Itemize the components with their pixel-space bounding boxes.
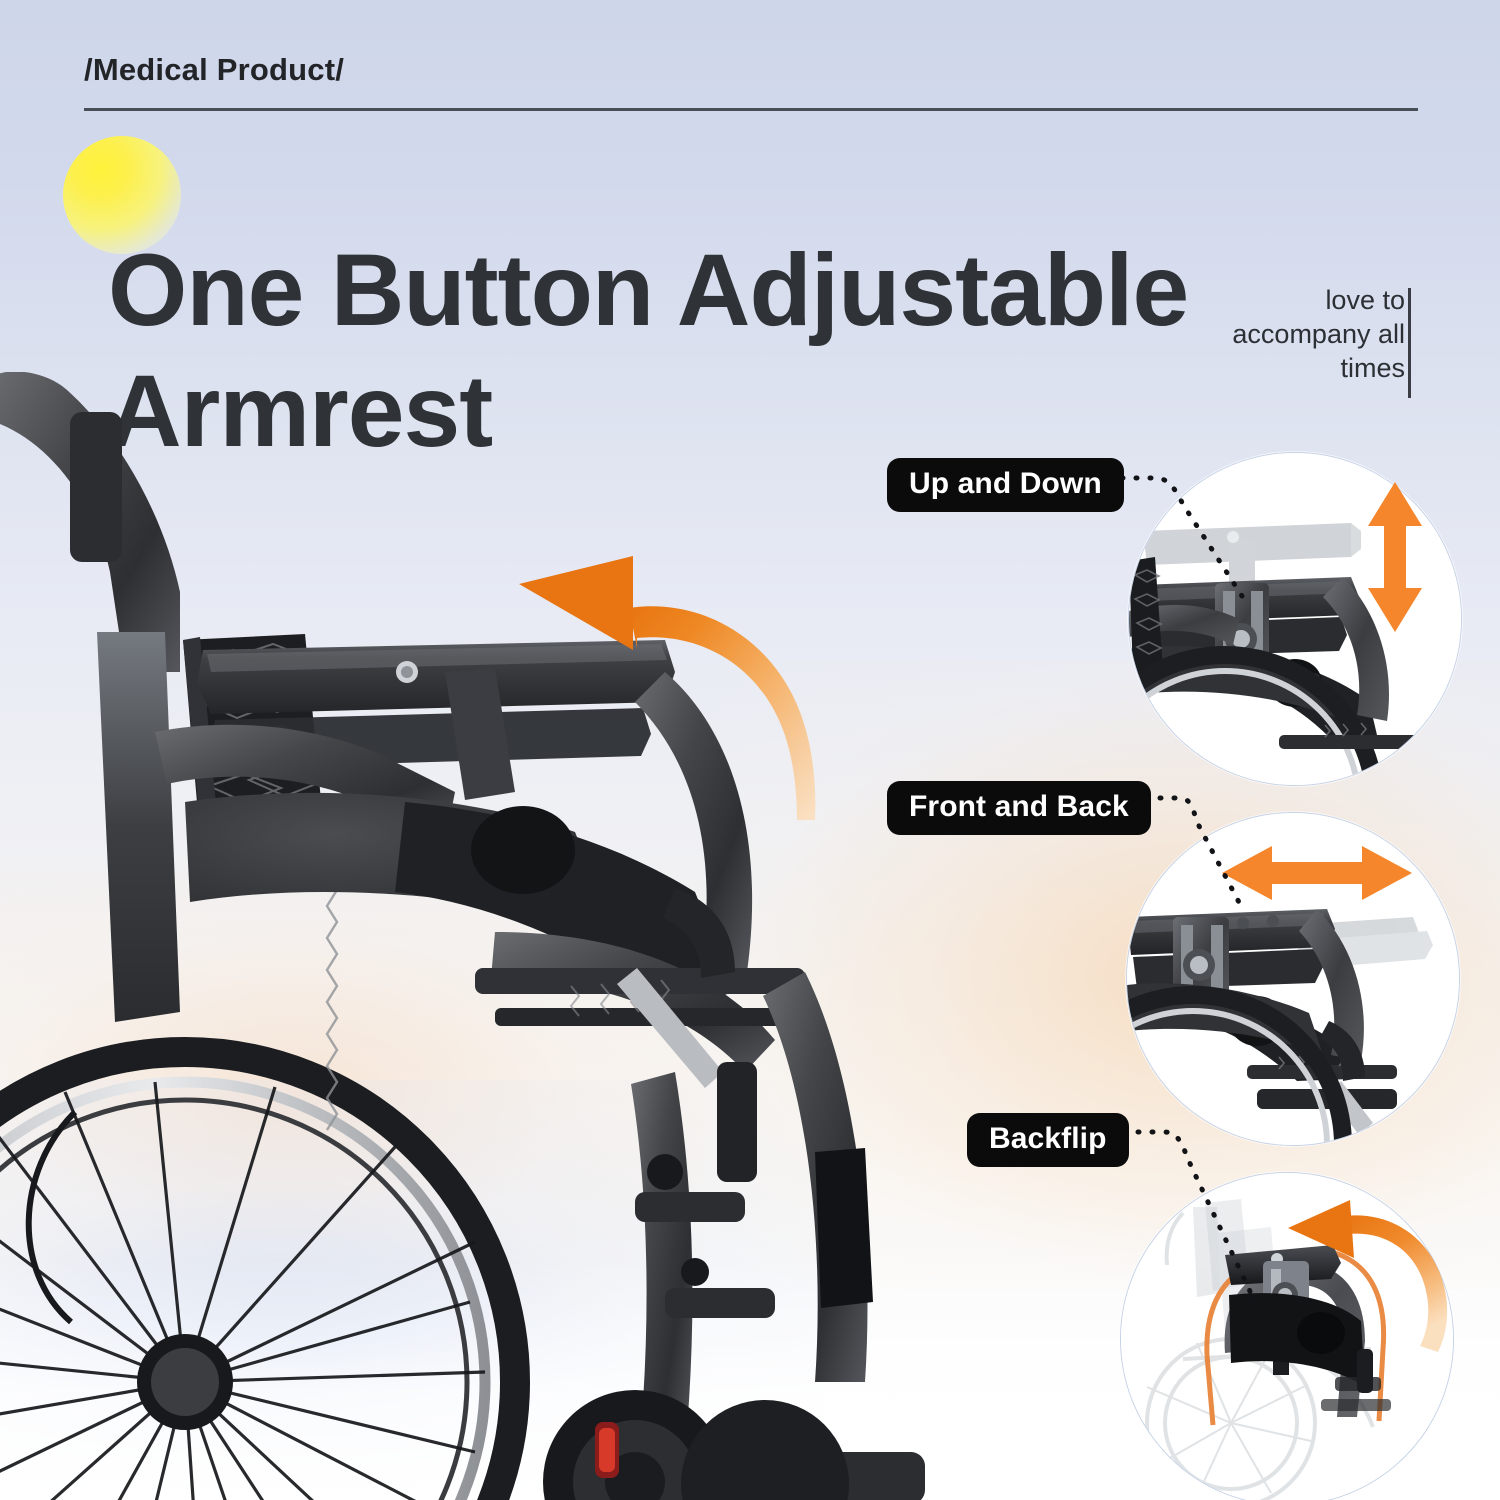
infographic-canvas: /Medical Product/ One Button Adjustable … [0, 0, 1500, 1500]
flip-direction-arrow-icon [505, 520, 865, 850]
tagline-text: love to accompany all times [1215, 283, 1405, 385]
vertical-double-arrow-icon [1360, 482, 1430, 632]
feature-label-backflip[interactable]: Backflip [967, 1113, 1129, 1167]
kicker-label: /Medical Product/ [84, 52, 344, 88]
header-divider [84, 108, 1418, 111]
headline-line-1: One Button Adjustable [108, 233, 1188, 347]
feature-label-front-and-back[interactable]: Front and Back [887, 781, 1151, 835]
tagline-rule [1408, 288, 1411, 398]
curved-rotate-arrow-icon [1288, 1200, 1458, 1360]
feature-label-up-and-down[interactable]: Up and Down [887, 458, 1124, 512]
horizontal-double-arrow-icon [1222, 838, 1412, 908]
